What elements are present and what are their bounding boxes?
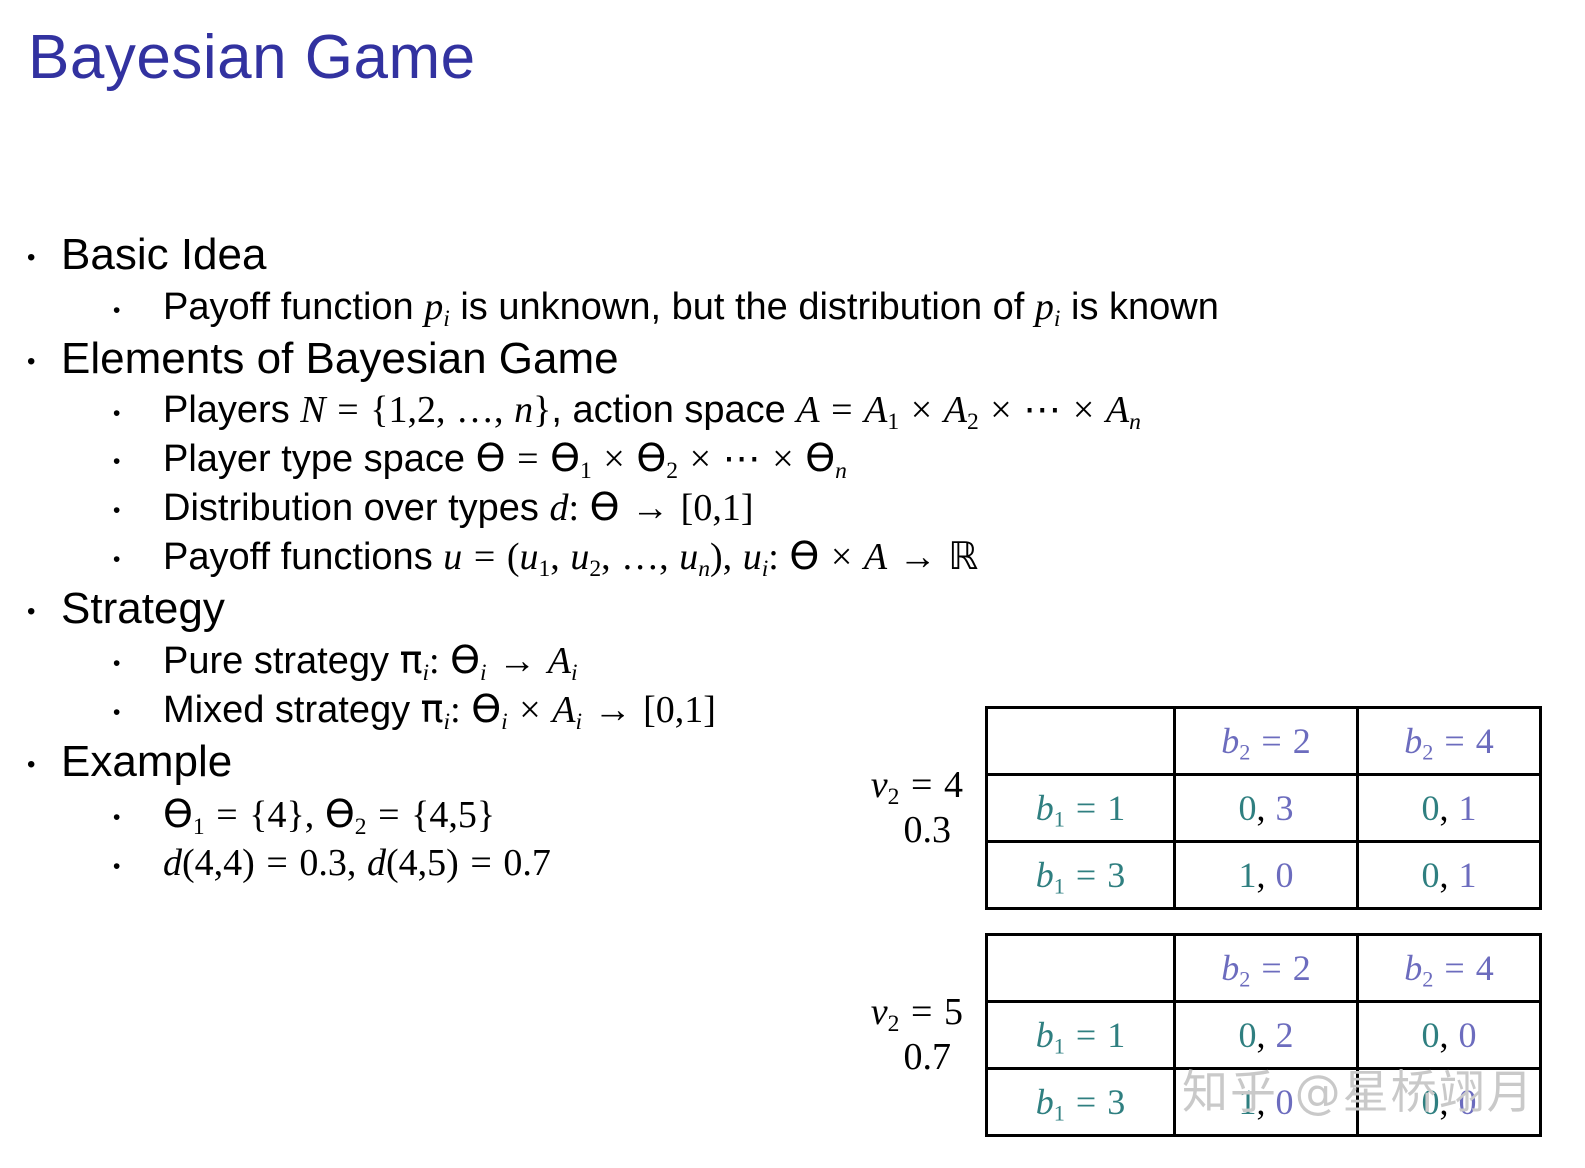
payoff-cell-r1c2: 0, 0 (1358, 1002, 1541, 1069)
bullet-label-math: Payoff function pi is unknown, but the d… (163, 284, 1585, 332)
bullet-label-math: Distribution over types d: ϴ → [0,1] (163, 484, 1585, 533)
payoff-cell-r1c2: 0, 1 (1358, 775, 1541, 842)
bullet-level2: • Players N = {1,2, …, n}, action space … (0, 387, 1585, 435)
payoff-cell-r2c1: 1, 0 (1175, 842, 1358, 909)
bullet-dot-icon: • (0, 533, 163, 570)
bullet-level1: • Strategy (0, 582, 1585, 636)
bullet-label-math: Pure strategy πi: ϴi → Ai (163, 637, 1585, 686)
table-row: b2 = 2 b2 = 4 (987, 935, 1541, 1002)
side-label-line2: 0.3 (770, 808, 963, 853)
slide-canvas: Bayesian Game • Basic Idea • Payoff func… (0, 0, 1585, 1168)
payoff-cell-r1c1: 0, 2 (1175, 1002, 1358, 1069)
bullet-dot-icon: • (0, 582, 55, 624)
bullet-dot-icon: • (0, 791, 163, 828)
payoff-table-2-group: v2 = 5 0.7 b2 = 2 b2 = 4 b1 = 1 0, 2 0, … (770, 933, 1542, 1137)
page-title: Bayesian Game (28, 24, 476, 92)
bullet-label-math: Payoff functions u = (u1, u2, …, un), ui… (163, 533, 1585, 582)
bullet-dot-icon: • (0, 484, 163, 521)
payoff-table-2-side-label: v2 = 5 0.7 (770, 990, 985, 1080)
bullet-dot-icon: • (0, 686, 163, 723)
column-header-b2-2: b2 = 2 (1175, 935, 1358, 1002)
table-corner-cell (987, 708, 1175, 775)
payoff-cell-r2c1: 1, 0 (1175, 1069, 1358, 1136)
bullet-dot-icon: • (0, 840, 163, 877)
bullet-level1: • Basic Idea (0, 228, 1585, 282)
bullet-label: Strategy (55, 582, 1585, 636)
bullet-label-math: Players N = {1,2, …, n}, action space A … (163, 387, 1585, 435)
payoff-table-1: b2 = 2 b2 = 4 b1 = 1 0, 3 0, 1 b1 = 3 1,… (985, 706, 1542, 910)
bullet-label: Basic Idea (55, 228, 1585, 282)
bullet-dot-icon: • (0, 735, 55, 777)
payoff-cell-r2c2: 0, 1 (1358, 842, 1541, 909)
side-label-line2: 0.7 (770, 1035, 963, 1080)
payoff-table-1-side-label: v2 = 4 0.3 (770, 763, 985, 853)
bullet-label: Elements of Bayesian Game (55, 332, 1585, 386)
bullet-level1: • Elements of Bayesian Game (0, 332, 1585, 386)
payoff-cell-r1c1: 0, 3 (1175, 775, 1358, 842)
row-header-b1-1: b1 = 1 (987, 1002, 1175, 1069)
bullet-dot-icon: • (0, 387, 163, 424)
bullet-label-math: Player type space ϴ = ϴ1 × ϴ2 × ⋯ × ϴn (163, 435, 1585, 484)
row-header-b1-3: b1 = 3 (987, 1069, 1175, 1136)
bullet-level2: • Payoff function pi is unknown, but the… (0, 284, 1585, 332)
column-header-b2-4: b2 = 4 (1358, 935, 1541, 1002)
side-label-line1: v2 = 5 (871, 991, 963, 1033)
column-header-b2-4: b2 = 4 (1358, 708, 1541, 775)
table-row: b1 = 1 0, 3 0, 1 (987, 775, 1541, 842)
bullet-dot-icon: • (0, 435, 163, 472)
payoff-table-2: b2 = 2 b2 = 4 b1 = 1 0, 2 0, 0 b1 = 3 1,… (985, 933, 1542, 1137)
column-header-b2-2: b2 = 2 (1175, 708, 1358, 775)
bullet-level2: • Distribution over types d: ϴ → [0,1] (0, 484, 1585, 533)
bullet-dot-icon: • (0, 228, 55, 270)
row-header-b1-1: b1 = 1 (987, 775, 1175, 842)
payoff-cell-r2c2: 0, 0 (1358, 1069, 1541, 1136)
table-row: b1 = 3 1, 0 0, 1 (987, 842, 1541, 909)
bullet-level2: • Pure strategy πi: ϴi → Ai (0, 637, 1585, 686)
bullet-level2: • Player type space ϴ = ϴ1 × ϴ2 × ⋯ × ϴn (0, 435, 1585, 484)
bullet-dot-icon: • (0, 332, 55, 374)
table-corner-cell (987, 935, 1175, 1002)
table-row: b1 = 3 1, 0 0, 0 (987, 1069, 1541, 1136)
payoff-table-1-group: v2 = 4 0.3 b2 = 2 b2 = 4 b1 = 1 0, 3 0, … (770, 706, 1542, 910)
bullet-dot-icon: • (0, 284, 163, 321)
table-row: b2 = 2 b2 = 4 (987, 708, 1541, 775)
bullet-dot-icon: • (0, 637, 163, 674)
row-header-b1-3: b1 = 3 (987, 842, 1175, 909)
bullet-level2: • Payoff functions u = (u1, u2, …, un), … (0, 533, 1585, 582)
side-label-line1: v2 = 4 (871, 764, 963, 806)
table-row: b1 = 1 0, 2 0, 0 (987, 1002, 1541, 1069)
